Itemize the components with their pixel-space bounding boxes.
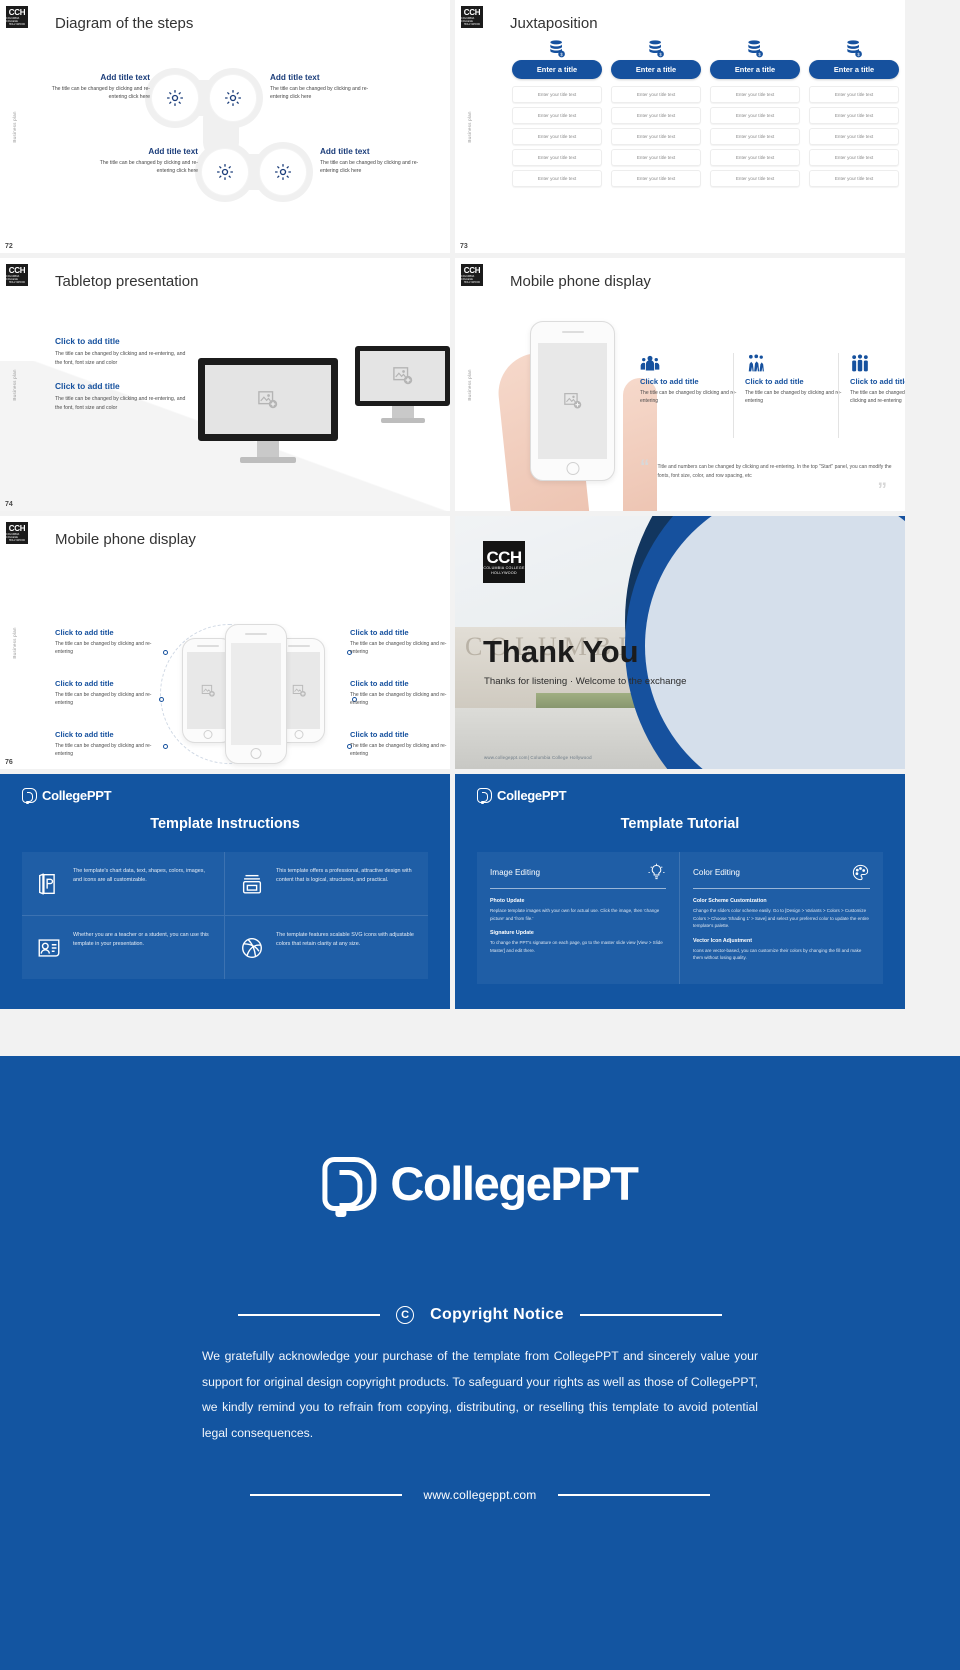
- phone-screen[interactable]: [538, 343, 608, 460]
- tutorial-section: Photo Update Replace template images wit…: [490, 898, 666, 922]
- footer-url-row: www.collegeppt.com: [0, 1488, 960, 1502]
- database-coin-icon: $: [547, 39, 567, 59]
- phone-home-button[interactable]: [204, 730, 213, 739]
- step-desc: The title can be changed by clicking and…: [320, 159, 425, 175]
- phone-home-button[interactable]: [295, 730, 304, 739]
- feature-3: Click to add title The title can be chan…: [850, 353, 905, 405]
- step-desc: The title can be changed by clicking and…: [45, 85, 150, 101]
- enter-your-title-text-cell[interactable]: Enter your title text: [512, 86, 602, 103]
- enter-your-title-text-cell[interactable]: Enter your title text: [710, 86, 800, 103]
- instruction-item: This template offers a professional, att…: [225, 852, 428, 916]
- tabletop-text-blocks: Click to add title The title can be chan…: [55, 336, 190, 426]
- collegeppt-mark-icon: [22, 788, 37, 803]
- slide-title: Mobile phone display: [55, 531, 196, 548]
- monitor-screen[interactable]: [355, 346, 450, 406]
- thank-you-heading: Thank You: [483, 634, 639, 670]
- cch-logo-icon: CCH COLUMBIA COLLEGE HOLLYWOOD: [6, 522, 28, 544]
- step-node-4[interactable]: [260, 149, 306, 195]
- connector-dot: [159, 697, 164, 702]
- enter-your-title-text-cell[interactable]: Enter your title text: [512, 149, 602, 166]
- phone-feature-text: Click to add titleThe title can be chang…: [350, 679, 450, 707]
- copyright-notice-label: Copyright Notice: [430, 1306, 564, 1324]
- enter-your-title-text-cell[interactable]: Enter your title text: [611, 128, 701, 145]
- enter-your-title-text-cell[interactable]: Enter your title text: [611, 86, 701, 103]
- enter-a-title-button[interactable]: Enter a title: [710, 60, 800, 79]
- monitor-neck: [392, 406, 414, 418]
- quote-open-icon: “: [640, 463, 650, 481]
- copyright-body-text: We gratefully acknowledge your purchase …: [202, 1344, 758, 1446]
- phone-screen[interactable]: [231, 643, 281, 745]
- slide-row-1: CCH COLUMBIA COLLEGE HOLLYWOOD Business …: [0, 0, 960, 253]
- collegeppt-mark-icon: [322, 1157, 376, 1211]
- cch-logo-line2: HOLLYWOOD: [9, 539, 25, 542]
- cch-logo-icon: CCH COLUMBIA COLLEGE HOLLYWOOD: [461, 264, 483, 286]
- presentation-thumbnail-sheet: CCH COLUMBIA COLLEGE HOLLYWOOD Business …: [0, 0, 960, 1670]
- slide-grid: CCH COLUMBIA COLLEGE HOLLYWOOD Business …: [0, 0, 960, 1014]
- tutorial-column-image-editing: Image Editing Photo Update Replace templ…: [477, 852, 680, 984]
- enter-your-title-text-cell[interactable]: Enter your title text: [710, 128, 800, 145]
- thank-you-subheading: Thanks for listening · Welcome to the ex…: [484, 676, 686, 687]
- phone-speaker: [562, 331, 584, 333]
- team-icon: [850, 353, 870, 373]
- tutorial-section-text: Icons are vector-based, you can customiz…: [693, 947, 870, 962]
- text-block: Click to add title The title can be chan…: [55, 381, 190, 412]
- slide-tabletop-presentation[interactable]: CCH COLUMBIA COLLEGE HOLLYWOOD Business …: [0, 258, 450, 511]
- cch-logo-line2: HOLLYWOOD: [491, 571, 517, 576]
- juxtaposition-column: $Enter a titleEnter your title textEnter…: [512, 38, 602, 191]
- collegeppt-logo: CollegePPT: [477, 788, 566, 803]
- phone-feature-text: Click to add titleThe title can be chang…: [350, 730, 450, 758]
- cch-logo-abbr: CCH: [464, 267, 480, 275]
- enter-your-title-text-cell[interactable]: Enter your title text: [611, 170, 701, 187]
- enter-your-title-text-cell[interactable]: Enter your title text: [710, 149, 800, 166]
- add-image-placeholder-icon: [257, 390, 279, 410]
- tutorial-section: Vector Icon Adjustment Icons are vector-…: [693, 938, 870, 962]
- block-title: Click to add title: [55, 336, 190, 346]
- copyright-icon: C: [396, 1306, 414, 1324]
- tutorial-section-text: To change the PPT's signature on each pa…: [490, 939, 666, 954]
- feature-1: Click to add title The title can be chan…: [640, 353, 740, 405]
- feature-desc: The title can be changed by clicking and…: [640, 389, 740, 405]
- cch-logo-icon: CCH COLUMBIA COLLEGE HOLLYWOOD: [461, 6, 483, 28]
- feature-title: Click to add title: [850, 377, 905, 386]
- database-coin-icon: $: [611, 38, 701, 60]
- block-title: Click to add title: [55, 381, 190, 391]
- instruction-item: The template features scalable SVG icons…: [225, 916, 428, 979]
- tutorial-section: Signature Update To change the PPT's sig…: [490, 930, 666, 954]
- feature-title: Click to add title: [55, 730, 155, 739]
- slide-title: Juxtaposition: [510, 15, 598, 32]
- enter-your-title-text-cell[interactable]: Enter your title text: [809, 170, 899, 187]
- tutorial-section: Color Scheme Customization Change the sl…: [693, 898, 870, 930]
- feature-title: Click to add title: [55, 679, 155, 688]
- feature-title: Click to add title: [55, 628, 155, 637]
- instructions-grid: The template's chart data, text, shapes,…: [22, 852, 428, 979]
- group-walking-icon: [745, 353, 765, 373]
- decorative-arc-inner: [645, 516, 905, 769]
- panel-title: Template Instructions: [0, 816, 450, 832]
- divider-line: [580, 1314, 722, 1316]
- slide-juxtaposition[interactable]: CCH COLUMBIA COLLEGE HOLLYWOOD Business …: [455, 0, 905, 253]
- palette-icon: [851, 863, 870, 882]
- enter-your-title-text-cell[interactable]: Enter your title text: [809, 128, 899, 145]
- footer-url[interactable]: www.collegeppt.com: [424, 1488, 537, 1502]
- tutorial-grid: Image Editing Photo Update Replace templ…: [477, 852, 883, 984]
- instruction-text: Whether you are a teacher or a student, …: [73, 929, 212, 966]
- enter-your-title-text-cell[interactable]: Enter your title text: [710, 107, 800, 124]
- tutorial-section-text: Change the slide's color scheme easily. …: [693, 907, 870, 930]
- step-title: Add title text: [320, 147, 425, 156]
- people-check-icon: [640, 353, 740, 373]
- slide-page-number: 74: [5, 501, 13, 508]
- feature-desc: The title can be changed by clicking and…: [850, 389, 905, 405]
- step-node-1[interactable]: [152, 75, 198, 121]
- box-stack-icon: [239, 871, 265, 897]
- step-text-1: Add title text The title can be changed …: [45, 73, 150, 101]
- feature-desc: The title can be changed by clicking and…: [55, 691, 155, 707]
- footer-copyright-section: CollegePPT C Copyright Notice We gratefu…: [0, 1056, 960, 1670]
- enter-your-title-text-cell[interactable]: Enter your title text: [611, 107, 701, 124]
- step-text-3: Add title text The title can be changed …: [93, 147, 198, 175]
- gear-icon: [165, 88, 185, 108]
- slide-page-number: 72: [5, 243, 13, 250]
- divider-line: [238, 1314, 380, 1316]
- phone-feature-text: Click to add titleThe title can be chang…: [55, 628, 155, 656]
- database-coin-icon: $: [809, 38, 899, 60]
- slide-thank-you[interactable]: COLUMBIA COLLEGE HOLLYWOOD CCH COLUMBIA …: [455, 516, 905, 769]
- monitor-base: [381, 418, 425, 423]
- divider-line: [558, 1494, 710, 1496]
- tutorial-section-title: Color Scheme Customization: [693, 898, 870, 904]
- tutorial-section-title: Vector Icon Adjustment: [693, 938, 870, 944]
- tutorial-heading: Color Editing: [693, 868, 740, 877]
- cch-logo-large-icon: CCH COLUMBIA COLLEGE HOLLYWOOD: [483, 541, 525, 583]
- block-desc: The title can be changed by clicking and…: [55, 350, 190, 367]
- collegeppt-logo-text: CollegePPT: [390, 1156, 637, 1211]
- quote-block: “ Title and numbers can be changed by cl…: [640, 463, 905, 481]
- step-title: Add title text: [270, 73, 375, 82]
- tutorial-section-title: Photo Update: [490, 898, 666, 904]
- cch-logo-abbr: CCH: [9, 9, 25, 17]
- database-coin-icon: $: [512, 38, 602, 60]
- cch-logo-abbr: CCH: [486, 549, 521, 566]
- phone-speaker: [245, 633, 267, 635]
- database-coin-icon: $: [646, 39, 666, 59]
- connector-dot: [163, 744, 168, 749]
- enter-your-title-text-cell[interactable]: Enter your title text: [512, 170, 602, 187]
- cch-logo-icon: CCH COLUMBIA COLLEGE HOLLYWOOD: [6, 6, 28, 28]
- copyright-notice-header: C Copyright Notice: [0, 1306, 960, 1324]
- tutorial-column-header: Color Editing: [693, 863, 870, 889]
- team-icon: [850, 353, 905, 373]
- slide-side-label: Business plan: [467, 111, 472, 142]
- people-check-icon: [640, 353, 660, 373]
- monitor-primary: [198, 358, 338, 463]
- phone-speaker: [288, 645, 310, 647]
- enter-a-title-button[interactable]: Enter a title: [809, 60, 899, 79]
- instruction-text: The template features scalable SVG icons…: [276, 929, 416, 966]
- feature-title: Click to add title: [350, 679, 450, 688]
- lightbulb-icon: [647, 863, 666, 882]
- gear-icon: [273, 162, 293, 182]
- instruction-text: This template offers a professional, att…: [276, 865, 416, 902]
- gear-icon: [223, 88, 243, 108]
- steps-diagram: Add title text The title can be changed …: [55, 50, 445, 220]
- feature-title: Click to add title: [350, 730, 450, 739]
- step-title: Add title text: [45, 73, 150, 82]
- juxtaposition-column: $Enter a titleEnter your title textEnter…: [809, 38, 899, 191]
- panel-template-tutorial[interactable]: CollegePPT Template Tutorial Image Editi…: [455, 774, 905, 1009]
- slide-title: Mobile phone display: [510, 273, 651, 290]
- instruction-item: The template's chart data, text, shapes,…: [22, 852, 225, 916]
- slide-side-label: Business plan: [12, 627, 17, 658]
- enter-your-title-text-cell[interactable]: Enter your title text: [611, 149, 701, 166]
- panel-row: CollegePPT Template Instructions The tem…: [0, 774, 960, 1009]
- cch-logo-line2: HOLLYWOOD: [9, 23, 25, 26]
- dribbble-ball-icon: [239, 935, 265, 961]
- enter-your-title-text-cell[interactable]: Enter your title text: [512, 107, 602, 124]
- phone-feature-text: Click to add titleThe title can be chang…: [55, 730, 155, 758]
- tutorial-heading: Image Editing: [490, 868, 540, 877]
- step-node-3[interactable]: [202, 149, 248, 195]
- phone-speaker: [197, 645, 219, 647]
- instruction-text: The template's chart data, text, shapes,…: [73, 865, 212, 902]
- quote-close-icon: ”: [878, 486, 888, 496]
- add-image-placeholder-icon: [392, 366, 414, 386]
- step-node-2[interactable]: [210, 75, 256, 121]
- enter-a-title-button[interactable]: Enter a title: [611, 60, 701, 79]
- slide-diagram-of-the-steps[interactable]: CCH COLUMBIA COLLEGE HOLLYWOOD Business …: [0, 0, 450, 253]
- slide-page-number: 73: [460, 243, 468, 250]
- id-card-icon: [36, 935, 62, 961]
- feature-desc: The title can be changed by clicking and…: [745, 389, 845, 405]
- feature-title: Click to add title: [745, 377, 845, 386]
- tutorial-section-text: Replace template images with your own fo…: [490, 907, 666, 922]
- text-block: Click to add title The title can be chan…: [55, 336, 190, 367]
- slide-page-number: 76: [5, 759, 13, 766]
- database-coin-icon: $: [745, 39, 765, 59]
- phone-home-button[interactable]: [566, 462, 579, 475]
- enter-your-title-text-cell[interactable]: Enter your title text: [809, 149, 899, 166]
- cch-logo-icon: CCH COLUMBIA COLLEGE HOLLYWOOD: [6, 264, 28, 286]
- phone-mockup[interactable]: [530, 321, 615, 481]
- collegeppt-logo-text: CollegePPT: [42, 788, 111, 803]
- dribbble-ball-icon: [237, 929, 267, 966]
- juxtaposition-column: $Enter a titleEnter your title textEnter…: [611, 38, 701, 191]
- phone-feature-text: Click to add titleThe title can be chang…: [55, 679, 155, 707]
- step-text-4: Add title text The title can be changed …: [320, 147, 425, 175]
- enter-your-title-text-cell[interactable]: Enter your title text: [809, 107, 899, 124]
- slide-mobile-phone-display-hand[interactable]: CCH COLUMBIA COLLEGE HOLLYWOOD Business …: [455, 258, 905, 511]
- step-title: Add title text: [93, 147, 198, 156]
- tutorial-section-title: Signature Update: [490, 930, 666, 936]
- add-image-placeholder-icon: [201, 684, 216, 698]
- monitor-neck: [257, 441, 279, 457]
- panel-title: Template Tutorial: [455, 816, 905, 832]
- slide-title: Tabletop presentation: [55, 273, 198, 290]
- phone-mockup-center[interactable]: [225, 624, 287, 764]
- slide-side-label: Business plan: [12, 111, 17, 142]
- slide-title: Diagram of the steps: [55, 15, 193, 32]
- cch-logo-line2: HOLLYWOOD: [9, 281, 25, 284]
- collegeppt-mark-icon: [477, 788, 492, 803]
- cch-logo-abbr: CCH: [9, 525, 25, 533]
- slide-row-2: CCH COLUMBIA COLLEGE HOLLYWOOD Business …: [0, 258, 960, 511]
- instruction-item: Whether you are a teacher or a student, …: [22, 916, 225, 979]
- box-stack-icon: [237, 865, 267, 902]
- phone-feature-text: Click to add titleThe title can be chang…: [350, 628, 450, 656]
- juxtaposition-columns: $Enter a titleEnter your title textEnter…: [512, 38, 899, 191]
- tutorial-column-color-editing: Color Editing Color Scheme Customization: [680, 852, 883, 984]
- cch-logo-line2: HOLLYWOOD: [464, 23, 480, 26]
- feature-desc: The title can be changed by clicking and…: [350, 742, 450, 758]
- monitor-screen[interactable]: [198, 358, 338, 441]
- block-desc: The title can be changed by clicking and…: [55, 395, 190, 412]
- cch-logo-line2: HOLLYWOOD: [464, 281, 480, 284]
- feature-desc: The title can be changed by clicking and…: [55, 640, 155, 656]
- gear-icon: [215, 162, 235, 182]
- add-image-placeholder-icon: [563, 392, 583, 410]
- id-card-icon: [34, 929, 64, 966]
- enter-a-title-button[interactable]: Enter a title: [512, 60, 602, 79]
- feature-desc: The title can be changed by clicking and…: [55, 742, 155, 758]
- monitor-base: [240, 457, 296, 463]
- step-text-2: Add title text The title can be changed …: [270, 73, 375, 101]
- connector-dot: [163, 650, 168, 655]
- slide-mobile-phone-display-trio[interactable]: CCH COLUMBIA COLLEGE HOLLYWOOD Business …: [0, 516, 450, 769]
- quote-text: Title and numbers can be changed by clic…: [658, 463, 906, 481]
- slides-p-icon: [34, 865, 64, 902]
- step-desc: The title can be changed by clicking and…: [93, 159, 198, 175]
- thank-you-footer: www.collegeppt.com| Columbia College Hol…: [484, 755, 592, 760]
- enter-your-title-text-cell[interactable]: Enter your title text: [710, 170, 800, 187]
- divider-line: [250, 1494, 402, 1496]
- feature-divider: [733, 353, 734, 438]
- feature-desc: The title can be changed by clicking and…: [350, 691, 450, 707]
- feature-divider: [838, 353, 839, 438]
- enter-your-title-text-cell[interactable]: Enter your title text: [809, 86, 899, 103]
- group-walking-icon: [745, 353, 845, 373]
- slides-p-icon: [36, 871, 62, 897]
- slide-row-3: CCH COLUMBIA COLLEGE HOLLYWOOD Business …: [0, 516, 960, 769]
- feature-2: Click to add title The title can be chan…: [745, 353, 845, 405]
- slide-side-label: Business plan: [467, 369, 472, 400]
- slide-side-label: Business plan: [12, 369, 17, 400]
- phone-home-button[interactable]: [251, 748, 262, 759]
- tutorial-column-header: Image Editing: [490, 863, 666, 889]
- collegeppt-logo-text: CollegePPT: [497, 788, 566, 803]
- cch-logo-abbr: CCH: [9, 267, 25, 275]
- feature-title: Click to add title: [640, 377, 740, 386]
- enter-your-title-text-cell[interactable]: Enter your title text: [512, 128, 602, 145]
- step-desc: The title can be changed by clicking and…: [270, 85, 375, 101]
- collegeppt-logo: CollegePPT: [22, 788, 111, 803]
- feature-desc: The title can be changed by clicking and…: [350, 640, 450, 656]
- juxtaposition-column: $Enter a titleEnter your title textEnter…: [710, 38, 800, 191]
- phone-screen[interactable]: [187, 652, 229, 728]
- panel-template-instructions[interactable]: CollegePPT Template Instructions The tem…: [0, 774, 450, 1009]
- feature-title: Click to add title: [350, 628, 450, 637]
- database-coin-icon: $: [710, 38, 800, 60]
- database-coin-icon: $: [844, 39, 864, 59]
- add-image-placeholder-icon: [292, 684, 307, 698]
- cch-logo-abbr: CCH: [464, 9, 480, 17]
- monitor-secondary: [355, 346, 450, 423]
- footer-collegeppt-logo: CollegePPT: [322, 1156, 637, 1211]
